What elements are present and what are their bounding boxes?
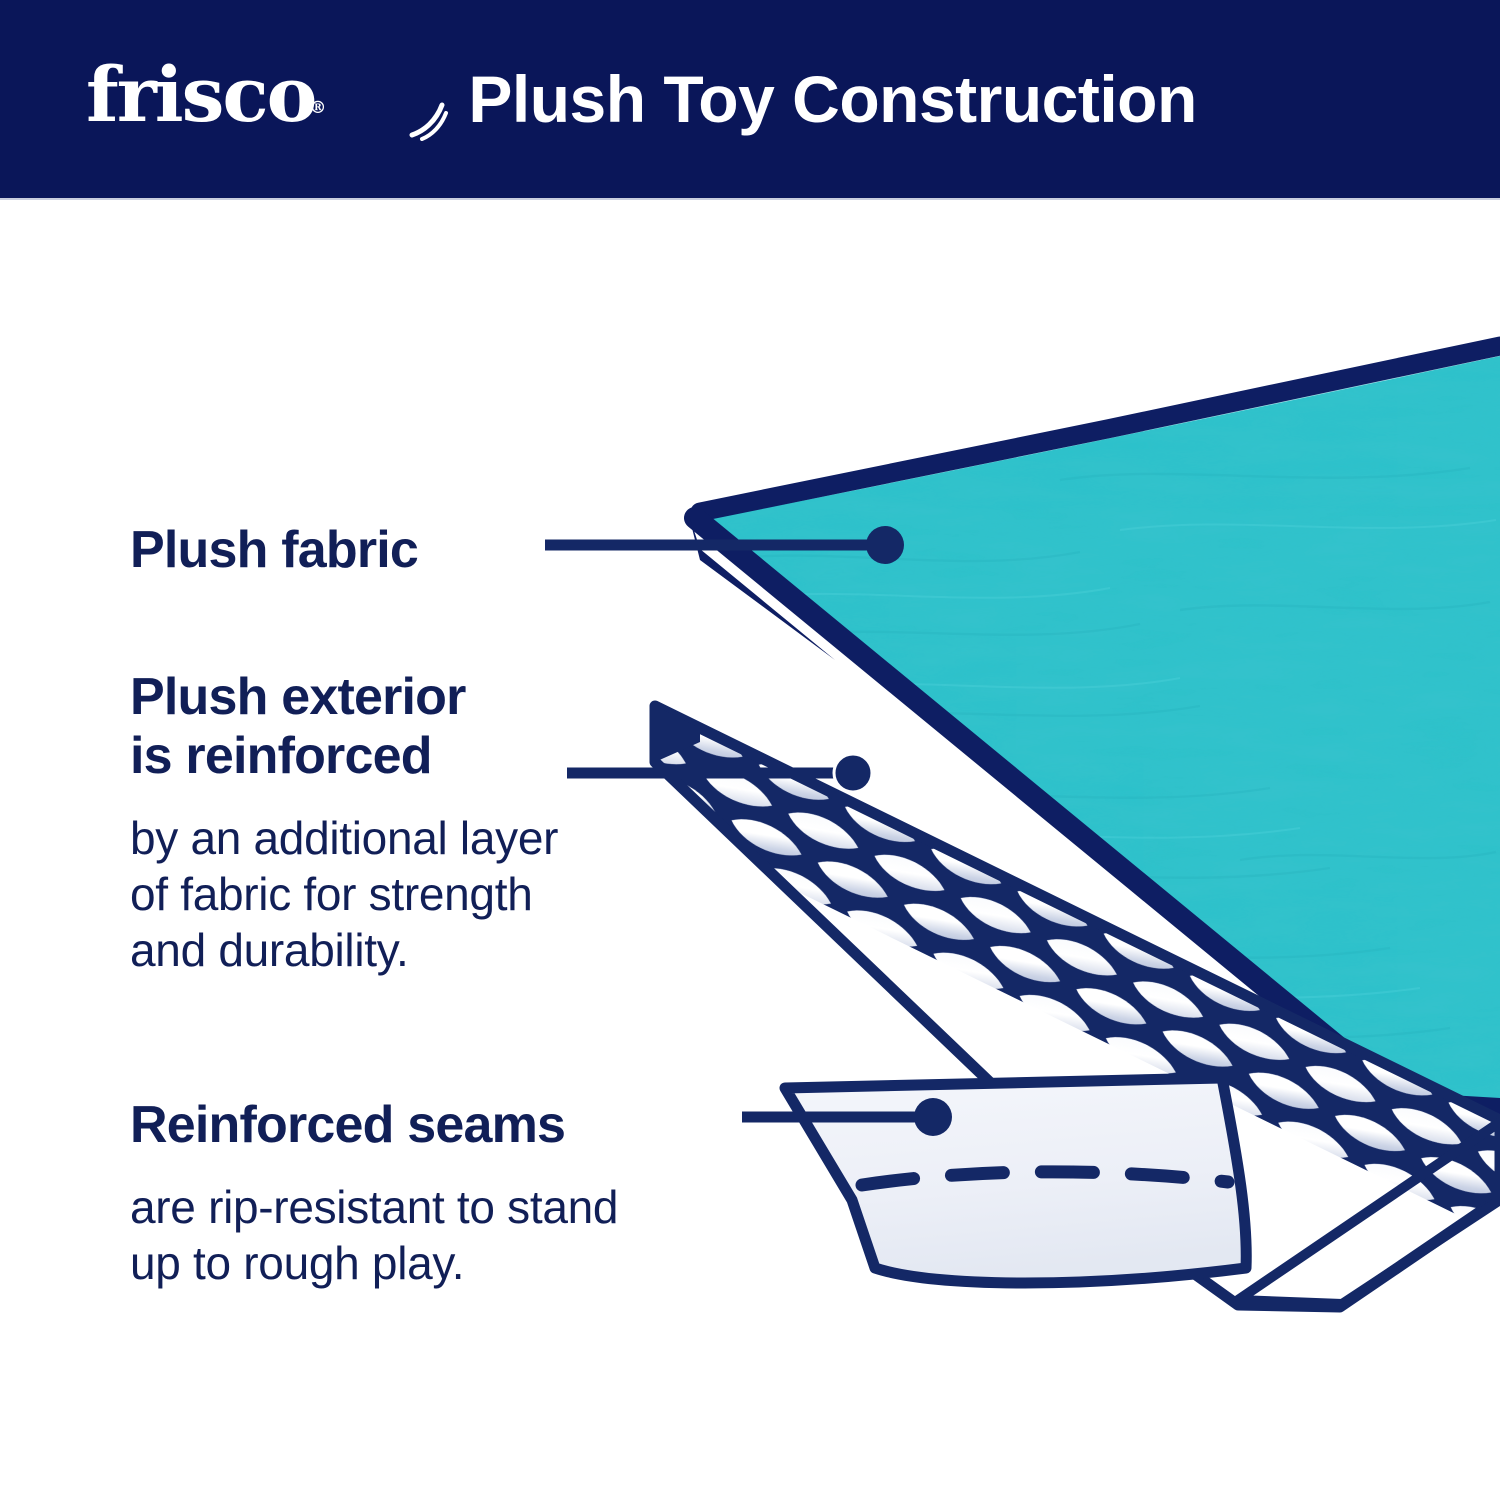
leader-dot-plush-fabric	[866, 526, 904, 564]
callout-plush-fabric: Plush fabric	[130, 503, 418, 598]
callout-plush-fabric-heading: Plush fabric	[130, 521, 418, 580]
page-title: Plush Toy Construction	[468, 61, 1196, 137]
callout-plush-exterior-heading: Plush exterior is reinforced	[130, 668, 558, 786]
frisco-logo: frisco®	[86, 57, 332, 133]
callout-plush-exterior-body: by an additional layer of fabric for str…	[130, 810, 558, 978]
frisco-swoosh-icon	[408, 101, 452, 141]
callout-plush-exterior: Plush exterior is reinforced by an addit…	[130, 650, 558, 996]
reinforced-seam-flap	[785, 1078, 1246, 1283]
callout-reinforced-seams: Reinforced seams are rip-resistant to st…	[130, 1078, 618, 1309]
callout-reinforced-seams-body: are rip-resistant to stand up to rough p…	[130, 1179, 618, 1291]
registered-trademark-icon: ®	[309, 98, 326, 118]
infographic-page: frisco® Plush Toy Construction	[0, 0, 1500, 1500]
callout-reinforced-seams-heading: Reinforced seams	[130, 1096, 618, 1155]
leader-dot-plush-exterior	[834, 754, 872, 792]
header-bar: frisco® Plush Toy Construction	[0, 0, 1500, 200]
leader-dot-reinforced-seams	[914, 1098, 952, 1136]
frisco-logo-text: frisco	[86, 50, 315, 139]
